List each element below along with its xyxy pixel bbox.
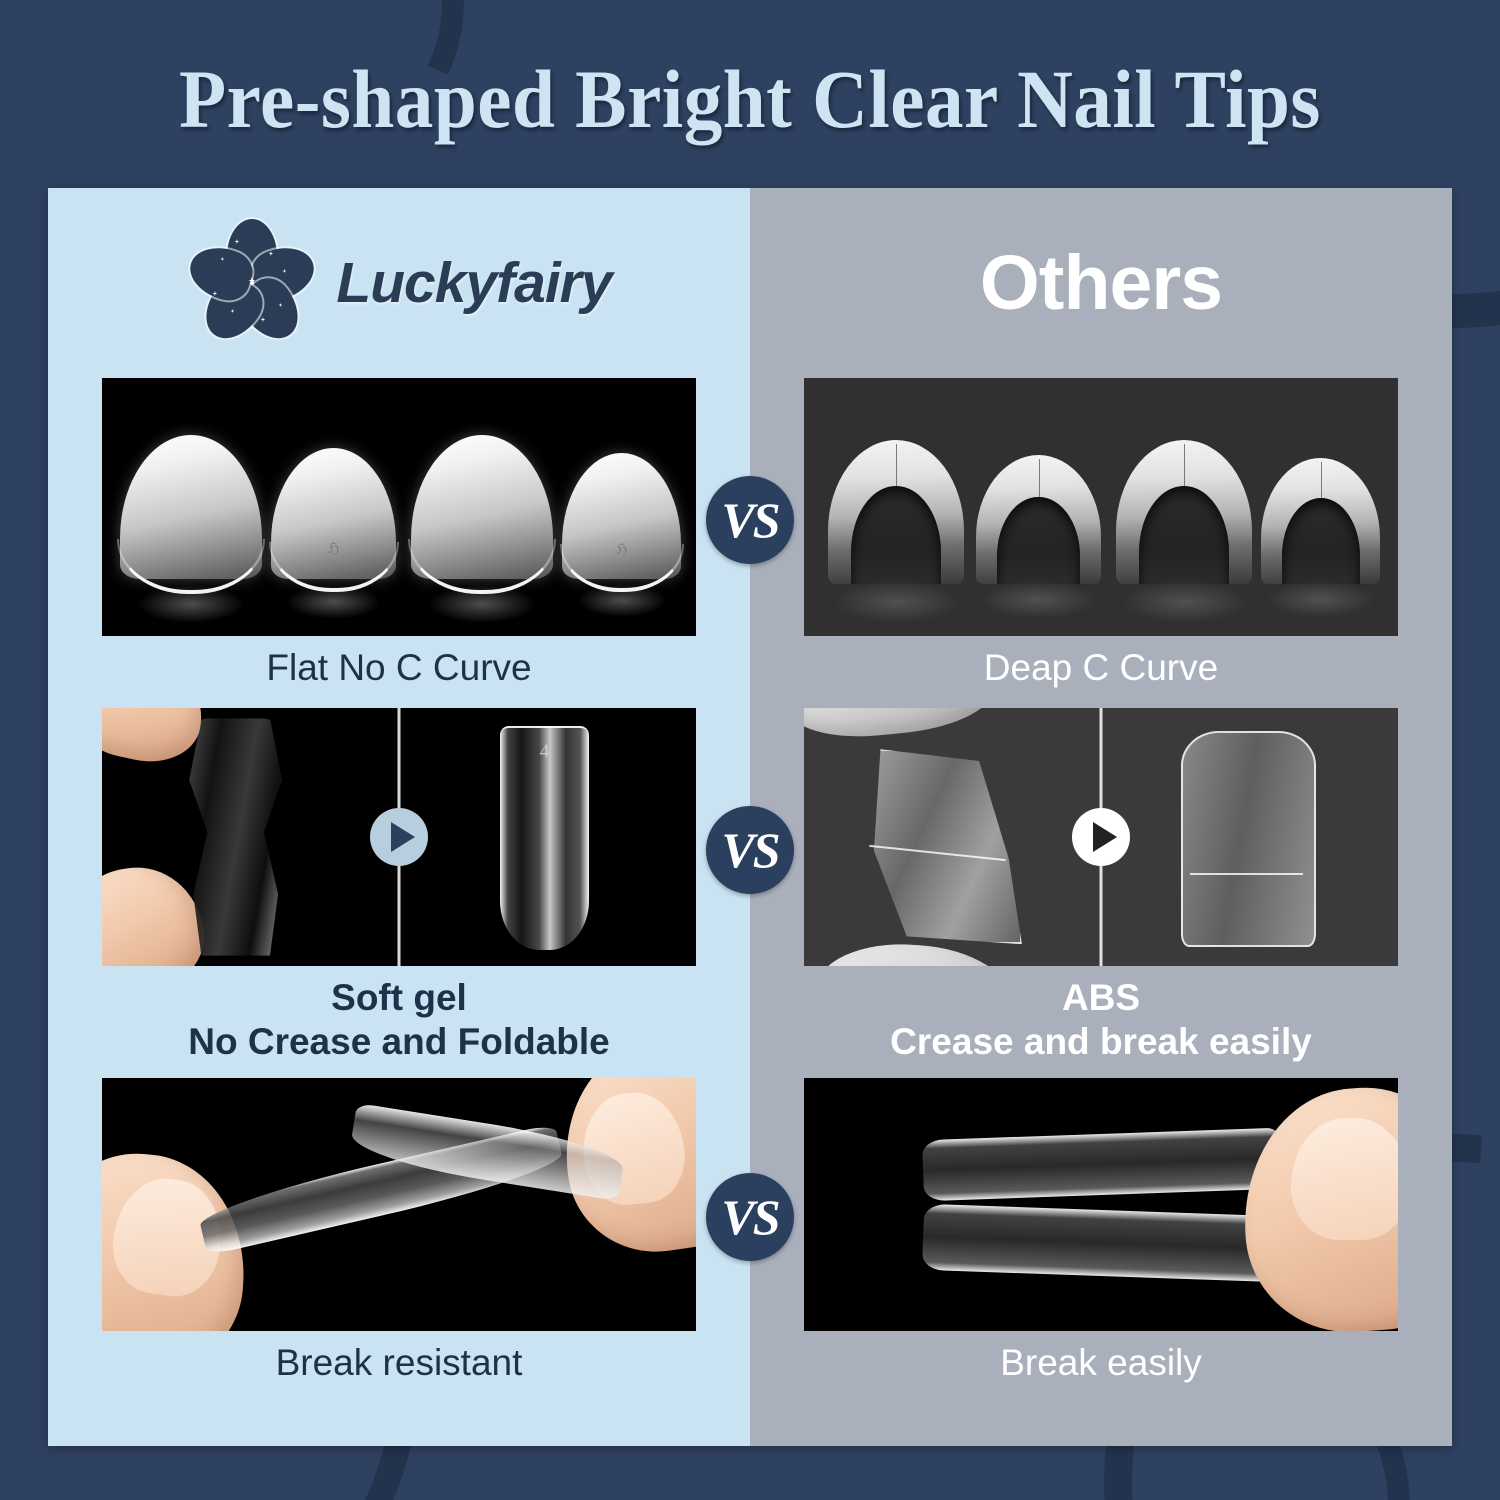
competitor-column: Others — [750, 188, 1452, 1446]
competitor-media-bend — [804, 708, 1101, 966]
play-triangle-icon[interactable] — [370, 808, 428, 866]
brand-cell-c-curve: ℌ ℌ Flat No C Curve — [48, 378, 750, 690]
competitor-media-creased-result — [1101, 708, 1398, 966]
page-title: Pre-shaped Bright Clear Nail Tips — [53, 58, 1448, 141]
flower-logo-icon — [186, 217, 318, 349]
tip-size-marking: 4 — [540, 741, 550, 763]
brand-media-gel-fold: 4 — [102, 708, 696, 966]
comparison-panel: Luckyfairy ℌ — [48, 188, 1452, 1446]
brand-cell-durability: Break resistant — [48, 1078, 750, 1385]
brand-name: Luckyfairy — [336, 250, 611, 316]
brand-media-flat-tips: ℌ ℌ — [102, 378, 696, 636]
competitor-caption-material: ABS Crease and break easily — [804, 976, 1398, 1063]
competitor-cell-durability: Break easily — [750, 1078, 1452, 1385]
competitor-caption-c-curve: Deap C Curve — [804, 646, 1398, 690]
competitor-header: Others — [750, 188, 1452, 378]
infographic-page: Pre-shaped Bright Clear Nail Tips — [0, 0, 1500, 1500]
brand-media-squeeze — [102, 708, 399, 966]
brand-caption-durability: Break resistant — [102, 1341, 696, 1385]
competitor-name: Others — [980, 239, 1222, 328]
vs-badge-durability: VS — [706, 1173, 794, 1261]
vs-badge-material: VS — [706, 806, 794, 894]
brand-media-flex — [102, 1078, 696, 1331]
competitor-cell-material: ABS Crease and break easily — [750, 708, 1452, 1063]
competitor-media-broken-tip — [804, 1078, 1398, 1331]
play-triangle-icon[interactable] — [1072, 808, 1130, 866]
brand-header: Luckyfairy — [48, 188, 750, 378]
competitor-caption-durability: Break easily — [804, 1341, 1398, 1385]
competitor-media-deep-c-tips — [804, 378, 1398, 636]
vs-badge-c-curve: VS — [706, 476, 794, 564]
brand-media-restored: 4 — [399, 708, 696, 966]
brand-caption-material: Soft gel No Crease and Foldable — [102, 976, 696, 1063]
brand-column: Luckyfairy ℌ — [48, 188, 750, 1446]
brand-cell-material: 4 Soft gel No Crease and Foldable — [48, 708, 750, 1063]
competitor-media-abs-crease — [804, 708, 1398, 966]
brand-caption-c-curve: Flat No C Curve — [102, 646, 696, 690]
competitor-cell-c-curve: Deap C Curve — [750, 378, 1452, 690]
